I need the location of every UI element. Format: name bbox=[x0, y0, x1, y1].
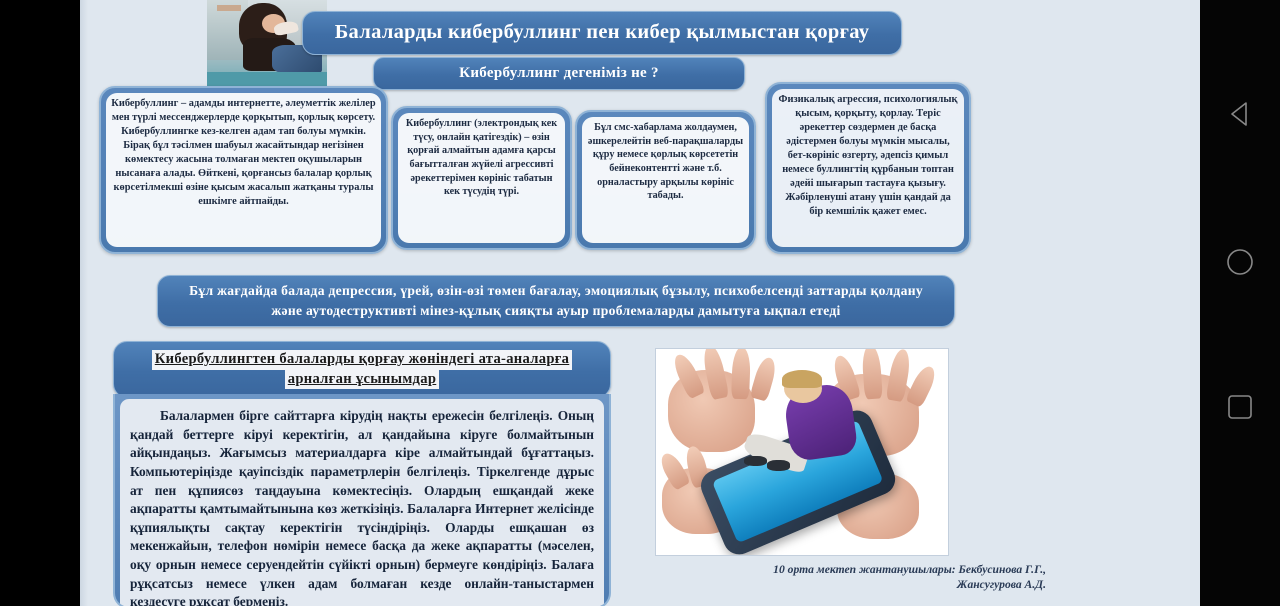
recommendations-header-line1: Кибербуллингтен балаларды қорғау жөнінде… bbox=[152, 350, 573, 370]
credits-line1: 10 орта мектеп жантанушылары: Бекбусинов… bbox=[626, 562, 1046, 577]
credits: 10 орта мектеп жантанушылары: Бекбусинов… bbox=[626, 562, 1046, 593]
effects-banner: Бұл жағдайда балада депрессия, үрей, өзі… bbox=[157, 275, 955, 327]
slide-subtitle: Кибербуллинг дегеніміз не ? bbox=[373, 57, 745, 90]
definition-card-electronic-text: Кибербуллинг (электрондық кек түсу, онла… bbox=[398, 113, 565, 243]
android-navigation-bar bbox=[1200, 0, 1280, 606]
home-nav-icon[interactable] bbox=[1223, 245, 1257, 284]
slide-title: Балаларды кибербуллинг пен кибер қылмыст… bbox=[302, 11, 902, 55]
device-screen: Балаларды кибербуллинг пен кибер қылмыст… bbox=[0, 0, 1280, 606]
recommendations-header: Кибербуллингтен балаларды қорғау жөнінде… bbox=[113, 341, 611, 398]
definition-card-electronic: Кибербуллинг (электрондық кек түсу, онла… bbox=[391, 106, 572, 250]
recommendations-body: Балалармен бірге сайттарға кірудің нақты… bbox=[113, 394, 611, 606]
definition-card-forms-text: Бұл смс-хабарлама жолдаумен, әшкерелейті… bbox=[582, 117, 749, 243]
definition-card-forms: Бұл смс-хабарлама жолдаумен, әшкерелейті… bbox=[575, 110, 756, 250]
recommendations-header-line2: арналған ұсынымдар bbox=[285, 370, 440, 390]
presentation-slide: Балаларды кибербуллинг пен кибер қылмыст… bbox=[80, 0, 1200, 606]
definition-card-aggression: Физикалық агрессия, психологиялық қысым,… bbox=[765, 82, 971, 254]
definition-card-intro: Кибербуллинг – адамды интернетте, әлеуме… bbox=[99, 86, 388, 254]
definition-card-intro-text: Кибербуллинг – адамды интернетте, әлеуме… bbox=[106, 93, 381, 247]
left-bezel bbox=[0, 0, 80, 606]
definition-card-aggression-text: Физикалық агрессия, психологиялық қысым,… bbox=[772, 89, 964, 247]
recents-nav-icon[interactable] bbox=[1223, 390, 1257, 429]
hands-reaching-phone-photo bbox=[655, 348, 949, 556]
back-nav-icon[interactable] bbox=[1223, 97, 1257, 136]
recommendations-body-text: Балалармен бірге сайттарға кірудің нақты… bbox=[120, 399, 604, 606]
credits-line2: Жансугурова А.Д. bbox=[626, 577, 1046, 592]
